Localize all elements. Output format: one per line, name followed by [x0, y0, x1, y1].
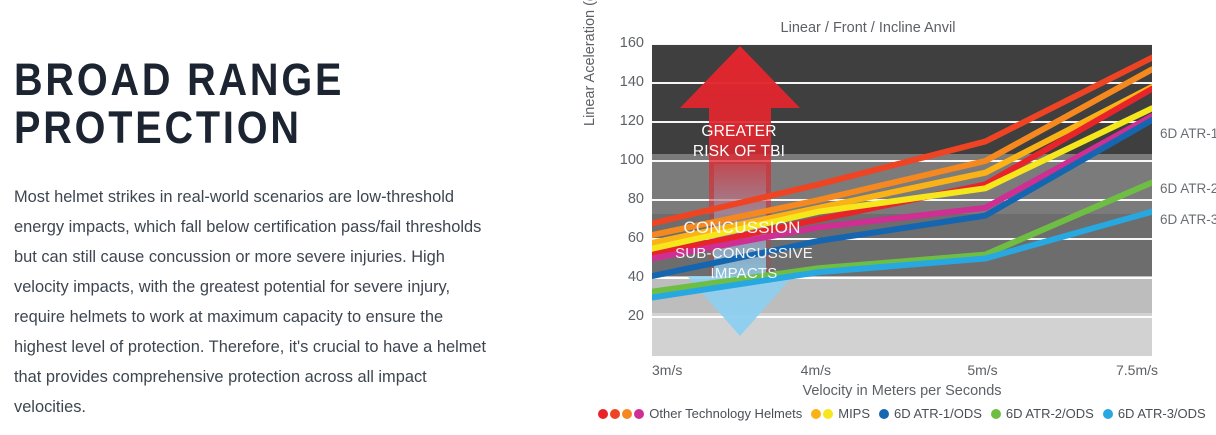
page-title: BROAD RANGE PROTECTION: [14, 56, 454, 152]
y-axis-tick-label: 60: [592, 230, 644, 246]
y-axis-tick-label: 160: [592, 35, 644, 51]
x-axis-tick-label: 7.5m/s: [1116, 362, 1158, 378]
series-callout-label: 6D ATR-2: [1160, 181, 1216, 196]
series-callout-label: 6D ATR-1: [1160, 126, 1216, 141]
legend-swatches: [1103, 409, 1113, 419]
legend-label: Other Technology Helmets: [649, 406, 802, 421]
x-axis-label: Velocity in Meters per Seconds: [652, 383, 1152, 399]
legend-item[interactable]: MIPS: [811, 406, 870, 421]
legend-swatches: [991, 409, 1001, 419]
chart-title: Linear / Front / Incline Anvil: [588, 20, 1148, 36]
y-axis-tick-label: 80: [592, 191, 644, 207]
legend-label: 6D ATR-2/ODS: [1006, 406, 1094, 421]
chart-legend: Other Technology HelmetsMIPS6D ATR-1/ODS…: [588, 406, 1216, 421]
x-axis-tick-label: 4m/s: [801, 362, 831, 378]
series-callout-label: 6D ATR-3: [1160, 212, 1216, 227]
legend-item[interactable]: 6D ATR-1/ODS: [879, 406, 982, 421]
legend-dot-icon: [1103, 409, 1113, 419]
legend-dot-icon: [811, 409, 821, 419]
promo-panel: BROAD RANGE PROTECTION Most helmet strik…: [0, 0, 1216, 435]
legend-item[interactable]: 6D ATR-2/ODS: [991, 406, 1094, 421]
x-axis-tick-label: 5m/s: [967, 362, 997, 378]
y-axis-tick-label: 120: [592, 113, 644, 129]
plot-area: GREATER RISK OF TBI CONCUSSION SUB-CONCU…: [652, 44, 1152, 356]
legend-item[interactable]: Other Technology Helmets: [598, 406, 802, 421]
legend-dot-icon: [879, 409, 889, 419]
series-lines: [652, 44, 1152, 356]
y-axis-tick-label: 100: [592, 152, 644, 168]
legend-swatches: [811, 409, 833, 419]
legend-dot-icon: [991, 409, 1001, 419]
legend-swatches: [879, 409, 889, 419]
legend-label: 6D ATR-3/ODS: [1118, 406, 1206, 421]
legend-dot-icon: [634, 409, 644, 419]
x-axis-tick-label: 3m/s: [652, 362, 682, 378]
body-paragraph: Most helmet strikes in real-world scenar…: [14, 182, 494, 422]
legend-label: MIPS: [838, 406, 870, 421]
y-axis-tick-label: 20: [592, 308, 644, 324]
text-panel: BROAD RANGE PROTECTION Most helmet strik…: [14, 56, 514, 422]
legend-swatches: [598, 409, 644, 419]
legend-dot-icon: [598, 409, 608, 419]
chart-container: Linear / Front / Incline Anvil Linear Ac…: [588, 8, 1216, 435]
legend-dot-icon: [823, 409, 833, 419]
y-axis-tick-label: 40: [592, 269, 644, 285]
legend-item[interactable]: 6D ATR-3/ODS: [1103, 406, 1206, 421]
legend-dot-icon: [622, 409, 632, 419]
y-axis-label: Linear Aceleration (g): [582, 0, 598, 126]
y-axis-tick-label: 140: [592, 74, 644, 90]
legend-dot-icon: [610, 409, 620, 419]
legend-label: 6D ATR-1/ODS: [894, 406, 982, 421]
